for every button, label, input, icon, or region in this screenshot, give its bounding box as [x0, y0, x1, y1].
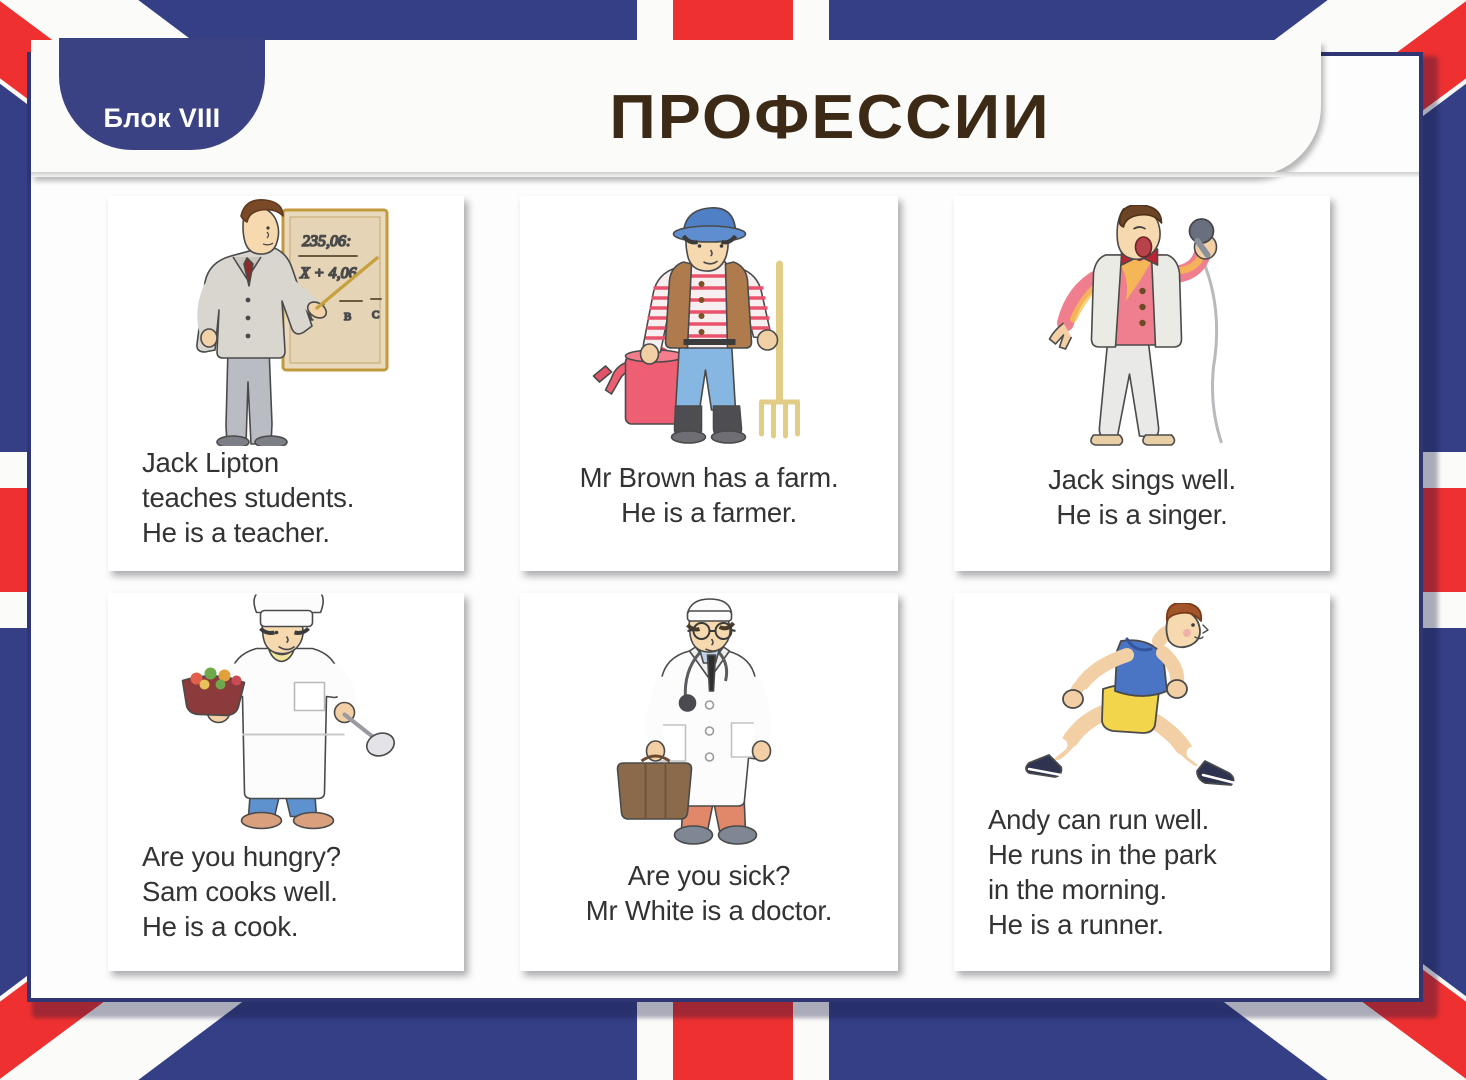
caption-line: Mr Brown has a farm.	[536, 461, 882, 496]
profession-card-grid: 235,06: X + 4,06 A B C	[108, 196, 1353, 976]
caption-doctor: Are you sick? Mr White is a doctor.	[520, 859, 898, 971]
caption-line: He is a singer.	[970, 498, 1314, 533]
svg-text:X + 4,06: X + 4,06	[299, 265, 357, 282]
caption-line: He is a teacher.	[142, 516, 448, 551]
farmer-illustration	[520, 196, 898, 461]
page-title: ПРОФЕССИИ	[310, 82, 1350, 153]
header-divider	[31, 172, 1419, 177]
caption-runner: Andy can run well. He runs in the park i…	[954, 803, 1330, 971]
caption-line: Mr White is a doctor.	[536, 894, 882, 929]
svg-text:B: B	[344, 311, 351, 323]
runner-illustration	[954, 593, 1330, 803]
profession-card-teacher[interactable]: 235,06: X + 4,06 A B C	[108, 196, 464, 571]
caption-line: He runs in the park	[988, 838, 1314, 873]
caption-line: Jack Lipton	[142, 446, 448, 481]
caption-line: Sam cooks well.	[142, 875, 448, 910]
caption-line: He is a farmer.	[536, 496, 882, 531]
caption-line: He is a cook.	[142, 910, 448, 945]
block-badge-label: Блок VIII	[104, 103, 221, 134]
caption-line: in the morning.	[988, 873, 1314, 908]
caption-cook: Are you hungry? Sam cooks well. He is a …	[108, 840, 464, 971]
profession-card-farmer[interactable]: Mr Brown has a farm. He is a farmer.	[520, 196, 898, 571]
svg-text:235,06:: 235,06:	[302, 233, 351, 250]
profession-card-runner[interactable]: Andy can run well. He runs in the park i…	[954, 593, 1330, 971]
singer-illustration	[954, 196, 1330, 463]
profession-card-singer[interactable]: Jack sings well. He is a singer.	[954, 196, 1330, 571]
teacher-illustration: 235,06: X + 4,06 A B C	[108, 196, 464, 446]
caption-line: Are you hungry?	[142, 840, 448, 875]
caption-line: Jack sings well.	[970, 463, 1314, 498]
profession-card-cook[interactable]: Are you hungry? Sam cooks well. He is a …	[108, 593, 464, 971]
block-badge: Блок VIII	[59, 38, 265, 150]
caption-line: Andy can run well.	[988, 803, 1314, 838]
caption-line: He is a runner.	[988, 908, 1314, 943]
svg-text:C: C	[372, 309, 379, 321]
profession-card-doctor[interactable]: Are you sick? Mr White is a doctor.	[520, 593, 898, 971]
cook-illustration	[108, 593, 464, 840]
doctor-illustration	[520, 593, 898, 859]
caption-line: Are you sick?	[536, 859, 882, 894]
caption-teacher: Jack Lipton teaches students. He is a te…	[108, 446, 464, 571]
caption-farmer: Mr Brown has a farm. He is a farmer.	[520, 461, 898, 571]
caption-singer: Jack sings well. He is a singer.	[954, 463, 1330, 571]
caption-line: teaches students.	[142, 481, 448, 516]
professions-poster: Блок VIII ПРОФЕССИИ 235,06: X	[0, 0, 1466, 1080]
